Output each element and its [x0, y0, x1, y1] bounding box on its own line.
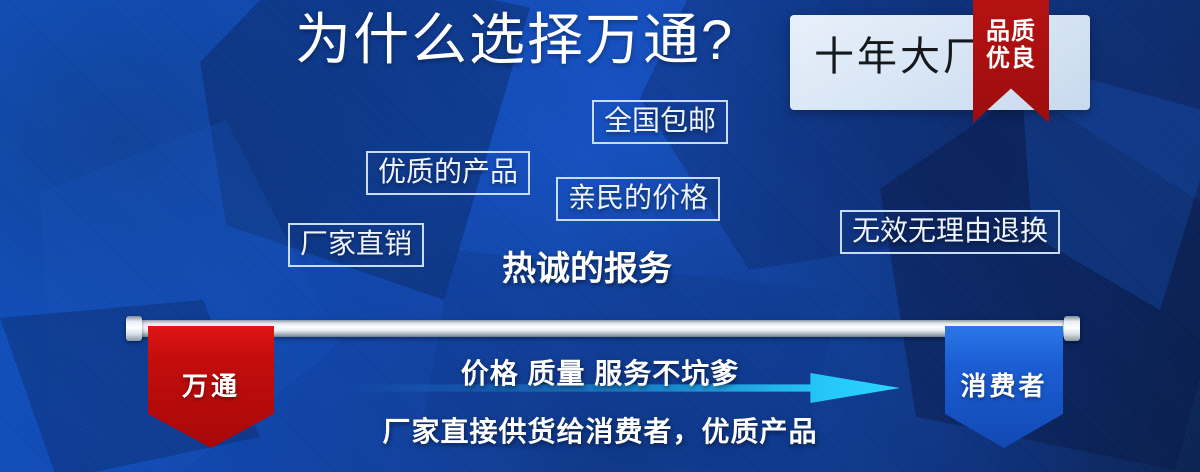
page-title: 为什么选择万通?	[295, 12, 734, 68]
rod-cap-left	[126, 316, 142, 341]
feature-tag-price: 亲民的价格	[556, 177, 720, 221]
promo-banner: 为什么选择万通? 十年大厂 品质 优良 全国包邮 优质的产品 亲民的价格 无效无…	[0, 0, 1200, 472]
feature-tag-shipping: 全国包邮	[592, 100, 728, 144]
flow-headline: 价格 质量 服务不坑爹	[0, 352, 1200, 392]
quality-badge: 十年大厂 品质 优良	[790, 15, 1090, 110]
feature-tag-quality: 优质的产品	[366, 151, 530, 195]
feature-tag-return: 无效无理由退换	[840, 210, 1060, 254]
badge-label: 十年大厂	[814, 37, 986, 77]
feature-tag-service: 热诚的报务	[492, 247, 682, 294]
ribbon-label-line1: 品质	[973, 18, 1049, 45]
flow-subtext: 厂家直接供货给消费者，优质产品	[0, 410, 1200, 450]
rod-cap-right	[1064, 316, 1080, 341]
ribbon-label-line2: 优良	[973, 45, 1049, 72]
feature-tag-factory: 厂家直销	[288, 223, 424, 267]
ribbon-icon: 品质 优良	[973, 0, 1049, 123]
ribbon-label: 品质 优良	[973, 18, 1049, 73]
